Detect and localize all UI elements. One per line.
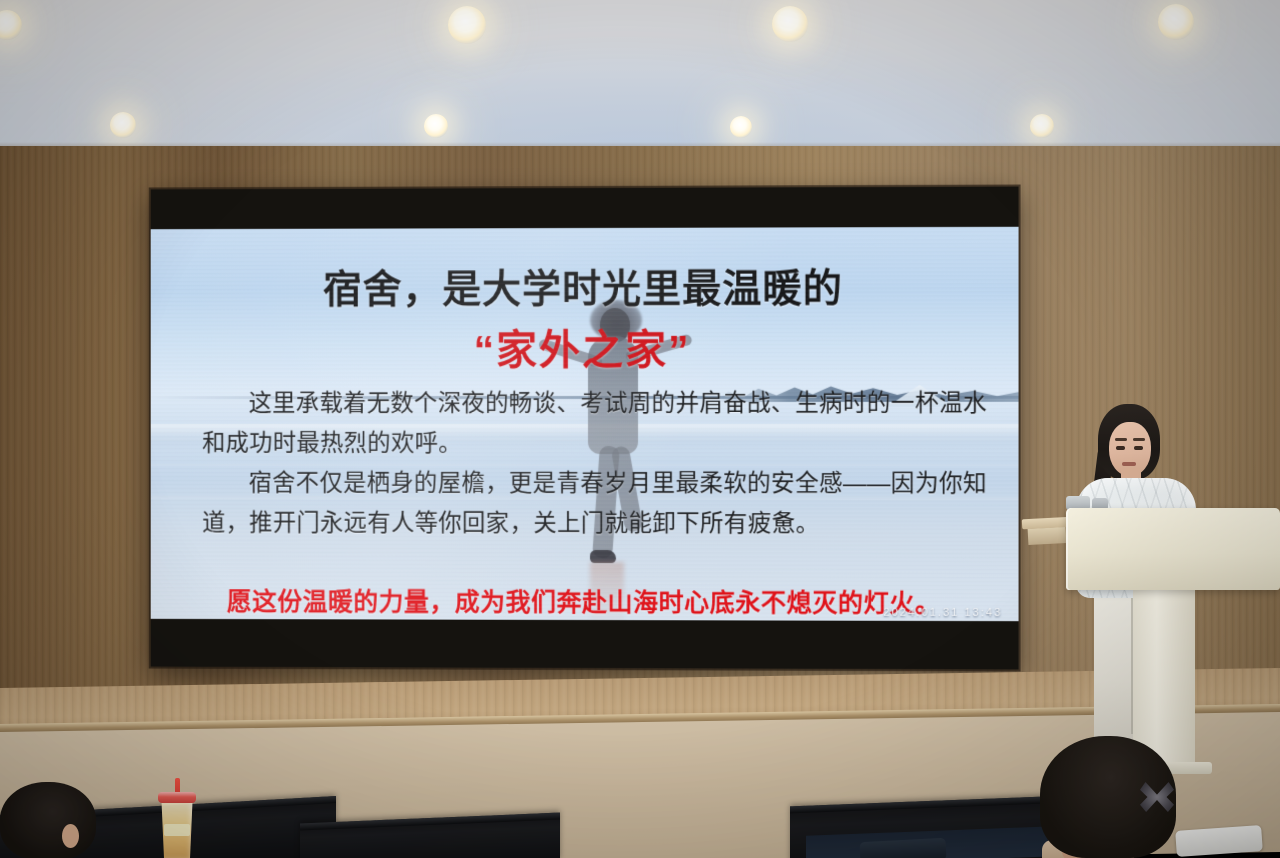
ceiling-light-icon: [772, 6, 808, 42]
slide-body: 这里承载着无数个深夜的畅谈、考试周的并肩奋战、生病时的一杯温水 和成功时最热烈的…: [202, 383, 974, 544]
smartphone-dark: [859, 838, 946, 858]
ceiling-light-icon: [448, 6, 486, 44]
slide-text-layer: 宿舍，是大学时光里最温暖的 “家外之家” 这里承载着无数个深夜的畅谈、考试周的并…: [151, 227, 1019, 621]
slide-body-line: 和成功时最热烈的欢呼。: [202, 423, 974, 463]
ceiling-light-icon: [1030, 114, 1054, 138]
podium-desk[interactable]: [1066, 508, 1280, 590]
slide-body-line: 宿舍不仅是栖身的屋檐，更是青春岁月里最柔软的安全感——因为你知: [202, 463, 974, 504]
ceiling: [0, 0, 1280, 152]
slide-subtitle: “家外之家”: [151, 315, 1019, 376]
ceiling-light-icon: [424, 114, 448, 138]
lecture-hall-scene: 宿舍，是大学时光里最温暖的 “家外之家” 这里承载着无数个深夜的畅谈、考试周的并…: [0, 0, 1280, 858]
bubble-tea-cup: [158, 784, 196, 858]
slide-title: 宿舍，是大学时光里最温暖的: [151, 257, 1019, 315]
slide-body-line: 道，推开门永远有人等你回家，关上门就能卸下所有疲惫。: [202, 503, 974, 544]
ceiling-light-icon: [1158, 4, 1194, 40]
audience-member-left: [0, 782, 96, 858]
projection-screen[interactable]: 宿舍，是大学时光里最温暖的 “家外之家” 这里承载着无数个深夜的畅谈、考试周的并…: [151, 187, 1019, 670]
ceiling-light-icon: [0, 10, 22, 40]
timestamp-watermark: 2024.01.31 13:43: [884, 607, 1003, 619]
slide-body-line: 这里承载着无数个深夜的畅谈、考试周的并肩奋战、生病时的一杯温水: [202, 383, 974, 423]
ceiling-light-icon: [730, 116, 752, 138]
podium-side-shelf-bracket: [1028, 527, 1067, 545]
ceiling-light-icon: [110, 112, 136, 138]
mouth: [1122, 462, 1136, 466]
podium-column: [1133, 588, 1195, 768]
ear: [62, 824, 79, 848]
